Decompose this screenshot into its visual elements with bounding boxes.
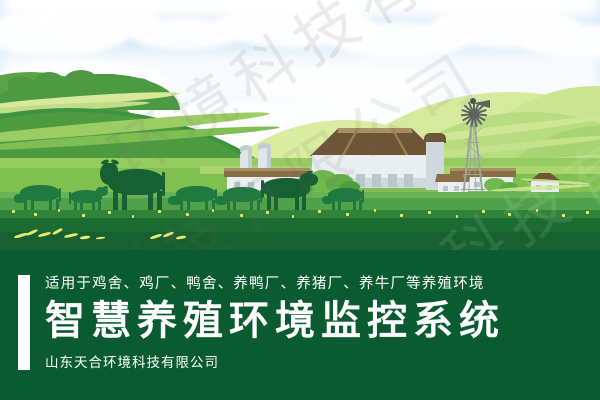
flower-speck <box>508 213 511 216</box>
treeline-bump <box>34 72 64 92</box>
cow-tail <box>261 180 264 198</box>
treeline-bump <box>96 74 126 92</box>
flower-speck <box>536 209 538 212</box>
flower-speck <box>266 211 269 214</box>
flower-speck <box>292 215 294 218</box>
poster-root: 环境科技有限公司 环境科技有限公司 环境科技有限公司 适用于鸡舍、鸡厂、鸭舍、养… <box>0 0 600 400</box>
banner-company-name: 山东天合环境科技有限公司 <box>45 351 590 371</box>
cow-leg <box>122 191 127 212</box>
accent-bar <box>18 275 30 370</box>
farm-landscape-illustration <box>0 0 600 250</box>
cow-tail <box>362 190 364 203</box>
flower-speck <box>240 214 243 217</box>
title-banner: 适用于鸡舍、鸡厂、鸭舍、养鸭厂、养猪厂、养牛厂等养殖环境 智慧养殖环境监控系统 … <box>0 250 600 400</box>
cow-leg <box>148 191 153 212</box>
flower-speck <box>132 215 134 218</box>
shed-window <box>443 186 448 191</box>
cow-standing-large <box>100 160 168 212</box>
barn-main-door <box>388 174 397 187</box>
flower-speck <box>82 214 85 217</box>
cow-head <box>300 173 318 186</box>
flower-speck <box>12 210 15 213</box>
cow-head <box>100 163 118 185</box>
flower-speck <box>374 209 376 212</box>
banner-title: 智慧养殖环境监控系统 <box>45 299 590 343</box>
flower-speck <box>108 211 111 214</box>
flower-speck <box>562 214 565 217</box>
flower-speck <box>586 211 589 214</box>
cow-standing <box>256 178 318 212</box>
treeline-bump <box>8 76 34 92</box>
flower-speck <box>346 213 349 216</box>
banner-text-block: 适用于鸡舍、鸡厂、鸭舍、养鸭厂、养猪厂、养牛厂等养殖环境 智慧养殖环境监控系统 … <box>45 272 590 371</box>
flower-speck <box>58 209 60 212</box>
flower-speck <box>158 210 161 213</box>
cow-tail <box>69 192 71 204</box>
flower-speck <box>400 214 403 217</box>
cow-grazing <box>14 185 64 211</box>
flower-speck <box>34 213 37 216</box>
flower-speck <box>456 215 458 218</box>
foreground-grass-dark <box>0 232 600 250</box>
windmill-brace <box>465 158 481 159</box>
cow-grazing <box>322 188 368 212</box>
barn-main-door <box>372 174 381 187</box>
flower-speck <box>186 213 189 216</box>
flower-speck <box>428 211 431 214</box>
barn-main-door <box>404 174 413 187</box>
treeline-bump <box>64 70 98 92</box>
windmill-brace <box>461 189 485 190</box>
windmill-rotor <box>461 89 485 113</box>
barn-roof-highlight <box>224 168 310 171</box>
flower-speck <box>318 210 321 213</box>
banner-subtitle: 适用于鸡舍、鸡厂、鸭舍、养鸭厂、养猪厂、养牛厂等养殖环境 <box>45 272 590 293</box>
flower-speck <box>482 210 485 213</box>
cow-leg <box>113 191 118 212</box>
cow-tail <box>162 172 165 196</box>
windmill-brace <box>467 142 479 143</box>
cow-tail <box>59 188 61 202</box>
flower-speck <box>212 209 214 212</box>
